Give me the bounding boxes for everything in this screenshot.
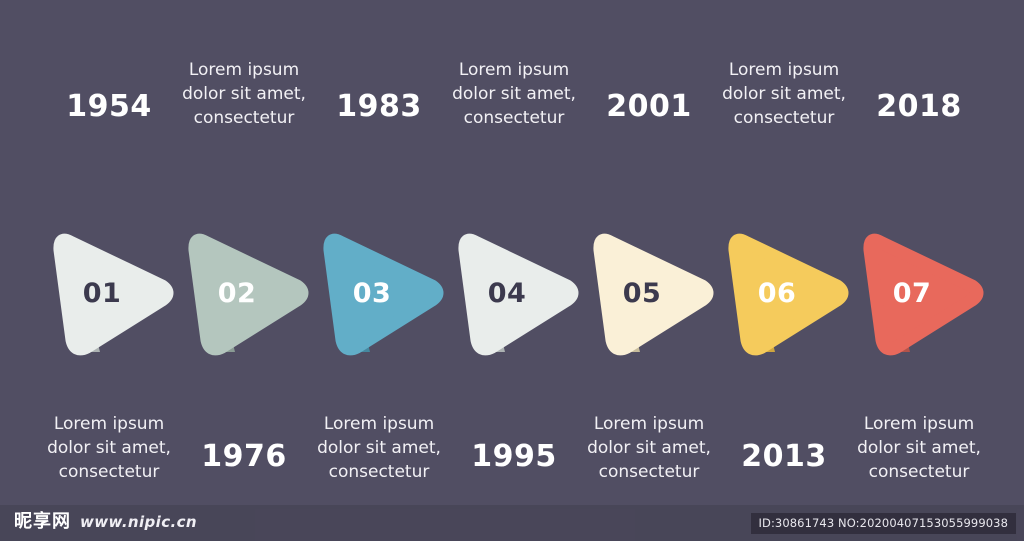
year-text: 1995 — [439, 440, 589, 473]
arrow-shape-02 — [179, 228, 309, 358]
year-text: 2018 — [844, 90, 994, 123]
year-label-2001: 2001 — [574, 38, 724, 123]
arrow-body-01 — [60, 240, 167, 349]
description-text: Lorem ipsum dolor sit amet, consectetur — [574, 412, 724, 484]
description-label-04: Lorem ipsum dolor sit amet, consectetur — [439, 38, 589, 130]
arrow-step-03[interactable]: 03 — [314, 228, 444, 358]
arrow-step-06[interactable]: 06 — [719, 228, 849, 358]
description-label-05: Lorem ipsum dolor sit amet, consectetur — [574, 398, 724, 484]
description-label-06: Lorem ipsum dolor sit amet, consectetur — [709, 38, 859, 130]
footer-bar: 昵享网 www.nipic.cn ID:30861743 NO:20200407… — [0, 505, 1024, 541]
top-label-row: 1954Lorem ipsum dolor sit amet, consecte… — [0, 38, 1024, 188]
arrow-shape-07 — [854, 228, 984, 358]
infographic-canvas: 1954Lorem ipsum dolor sit amet, consecte… — [0, 0, 1024, 541]
year-text: 2013 — [709, 440, 859, 473]
year-label-1983: 1983 — [304, 38, 454, 123]
year-text: 1983 — [304, 90, 454, 123]
arrow-step-04[interactable]: 04 — [449, 228, 579, 358]
arrow-body-03 — [330, 240, 437, 349]
nipic-logo: 昵享网 — [14, 511, 71, 533]
year-text: 2001 — [574, 90, 724, 123]
description-text: Lorem ipsum dolor sit amet, consectetur — [169, 58, 319, 130]
arrow-shape-04 — [449, 228, 579, 358]
arrow-step-02[interactable]: 02 — [179, 228, 309, 358]
description-label-01: Lorem ipsum dolor sit amet, consectetur — [34, 398, 184, 484]
description-label-07: Lorem ipsum dolor sit amet, consectetur — [844, 398, 994, 484]
arrow-body-06 — [735, 240, 842, 349]
arrow-body-04 — [465, 240, 572, 349]
arrow-shape-06 — [719, 228, 849, 358]
image-id-badge: ID:30861743 NO:20200407153055999038 — [751, 513, 1016, 534]
year-label-2013: 2013 — [709, 398, 859, 473]
arrow-step-row: 01020304050607 — [0, 228, 1024, 358]
year-text: 1976 — [169, 440, 319, 473]
year-label-2018: 2018 — [844, 38, 994, 123]
arrow-step-01[interactable]: 01 — [44, 228, 174, 358]
description-label-02: Lorem ipsum dolor sit amet, consectetur — [169, 38, 319, 130]
arrow-body-05 — [600, 240, 707, 349]
description-text: Lorem ipsum dolor sit amet, consectetur — [34, 412, 184, 484]
year-label-1954: 1954 — [34, 38, 184, 123]
arrow-shape-03 — [314, 228, 444, 358]
arrow-shape-05 — [584, 228, 714, 358]
arrow-body-02 — [195, 240, 302, 349]
description-label-03: Lorem ipsum dolor sit amet, consectetur — [304, 398, 454, 484]
year-label-1976: 1976 — [169, 398, 319, 473]
year-label-1995: 1995 — [439, 398, 589, 473]
year-text: 1954 — [34, 90, 184, 123]
arrow-shape-01 — [44, 228, 174, 358]
arrow-step-05[interactable]: 05 — [584, 228, 714, 358]
description-text: Lorem ipsum dolor sit amet, consectetur — [304, 412, 454, 484]
description-text: Lorem ipsum dolor sit amet, consectetur — [844, 412, 994, 484]
watermark: 昵享网 www.nipic.cn — [14, 511, 197, 533]
description-text: Lorem ipsum dolor sit amet, consectetur — [709, 58, 859, 130]
arrow-body-07 — [870, 240, 977, 349]
description-text: Lorem ipsum dolor sit amet, consectetur — [439, 58, 589, 130]
nipic-url: www.nipic.cn — [80, 513, 197, 531]
arrow-step-07[interactable]: 07 — [854, 228, 984, 358]
